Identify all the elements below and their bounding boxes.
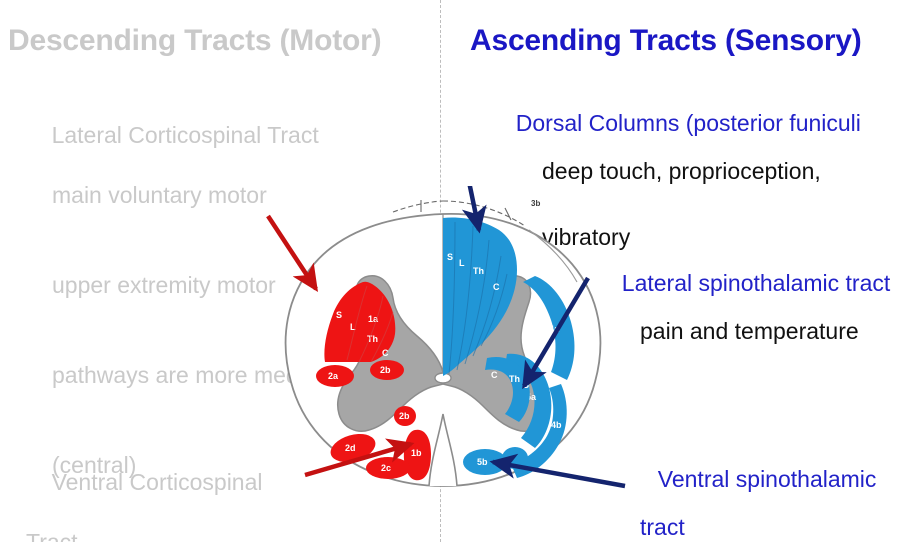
- blue-label-Th: Th: [509, 374, 520, 384]
- red-label-1b: 1b: [411, 448, 422, 458]
- lateral-spinothalamic-detail-1: pain and temperature: [604, 316, 890, 346]
- spinal-cord-cross-section: 3b S L 1a Th C 2a 2b 2b 1b 2d 2c: [243, 186, 643, 516]
- red-label-2b-lower: 2b: [399, 411, 410, 421]
- descending-tracts-heading: Descending Tracts (Motor): [8, 24, 381, 58]
- ascending-tracts-heading: Ascending Tracts (Sensory): [470, 24, 862, 58]
- red-label-C: C: [382, 348, 389, 358]
- red-label-2c: 2c: [381, 463, 391, 473]
- red-label-2a: 2a: [328, 371, 339, 381]
- red-label-2d: 2d: [345, 443, 356, 453]
- arrow-ventral-spinothalamic: [493, 462, 625, 486]
- ventral-spinothalamic-title: Ventral spinothalamic: [658, 466, 877, 492]
- dorsal-columns-detail-1: deep touch, proprioception,: [498, 156, 861, 186]
- lateral-spinothalamic-text-block: Lateral spinothalamic tract pain and tem…: [604, 250, 890, 382]
- blue-label-C: C: [491, 370, 498, 380]
- tick-right: [505, 208, 511, 220]
- label-3b: 3b: [531, 199, 540, 208]
- ventral-corticospinal-title-line2: Tract: [26, 527, 263, 542]
- lateral-spinothalamic-title: Lateral spinothalamic tract: [622, 270, 890, 296]
- arrow-lateral-corticospinal: [268, 216, 316, 289]
- dorsal-columns-title: Dorsal Columns (posterior funiculi: [516, 110, 861, 136]
- blue-label-4b: 4b: [551, 420, 562, 430]
- lateral-corticospinal-title: Lateral Corticospinal Tract: [52, 122, 319, 148]
- blue-dorsal-label-S: S: [447, 252, 453, 262]
- red-label-S: S: [336, 310, 342, 320]
- ventral-spinothalamic-text-block: Ventral spinothalamic tract light touch: [640, 446, 876, 542]
- red-label-2b-upper: 2b: [380, 365, 391, 375]
- blue-dorsal-label-Th: Th: [473, 266, 484, 276]
- ventral-corticospinal-text-block: Ventral Corticospinal Tract voluntary mo…: [26, 437, 263, 542]
- blue-dorsal-label-L: L: [459, 258, 465, 268]
- red-label-Th: Th: [367, 334, 378, 344]
- ventral-spinothalamic-title-line2: tract: [640, 512, 876, 542]
- blue-dorsal-label-C: C: [493, 282, 500, 292]
- ventral-corticospinal-title: Ventral Corticospinal: [52, 469, 263, 495]
- blue-label-5b: 5b: [477, 457, 488, 467]
- outer-arc-left: [393, 201, 443, 212]
- slide-canvas: Descending Tracts (Motor) Lateral Cortic…: [0, 0, 913, 542]
